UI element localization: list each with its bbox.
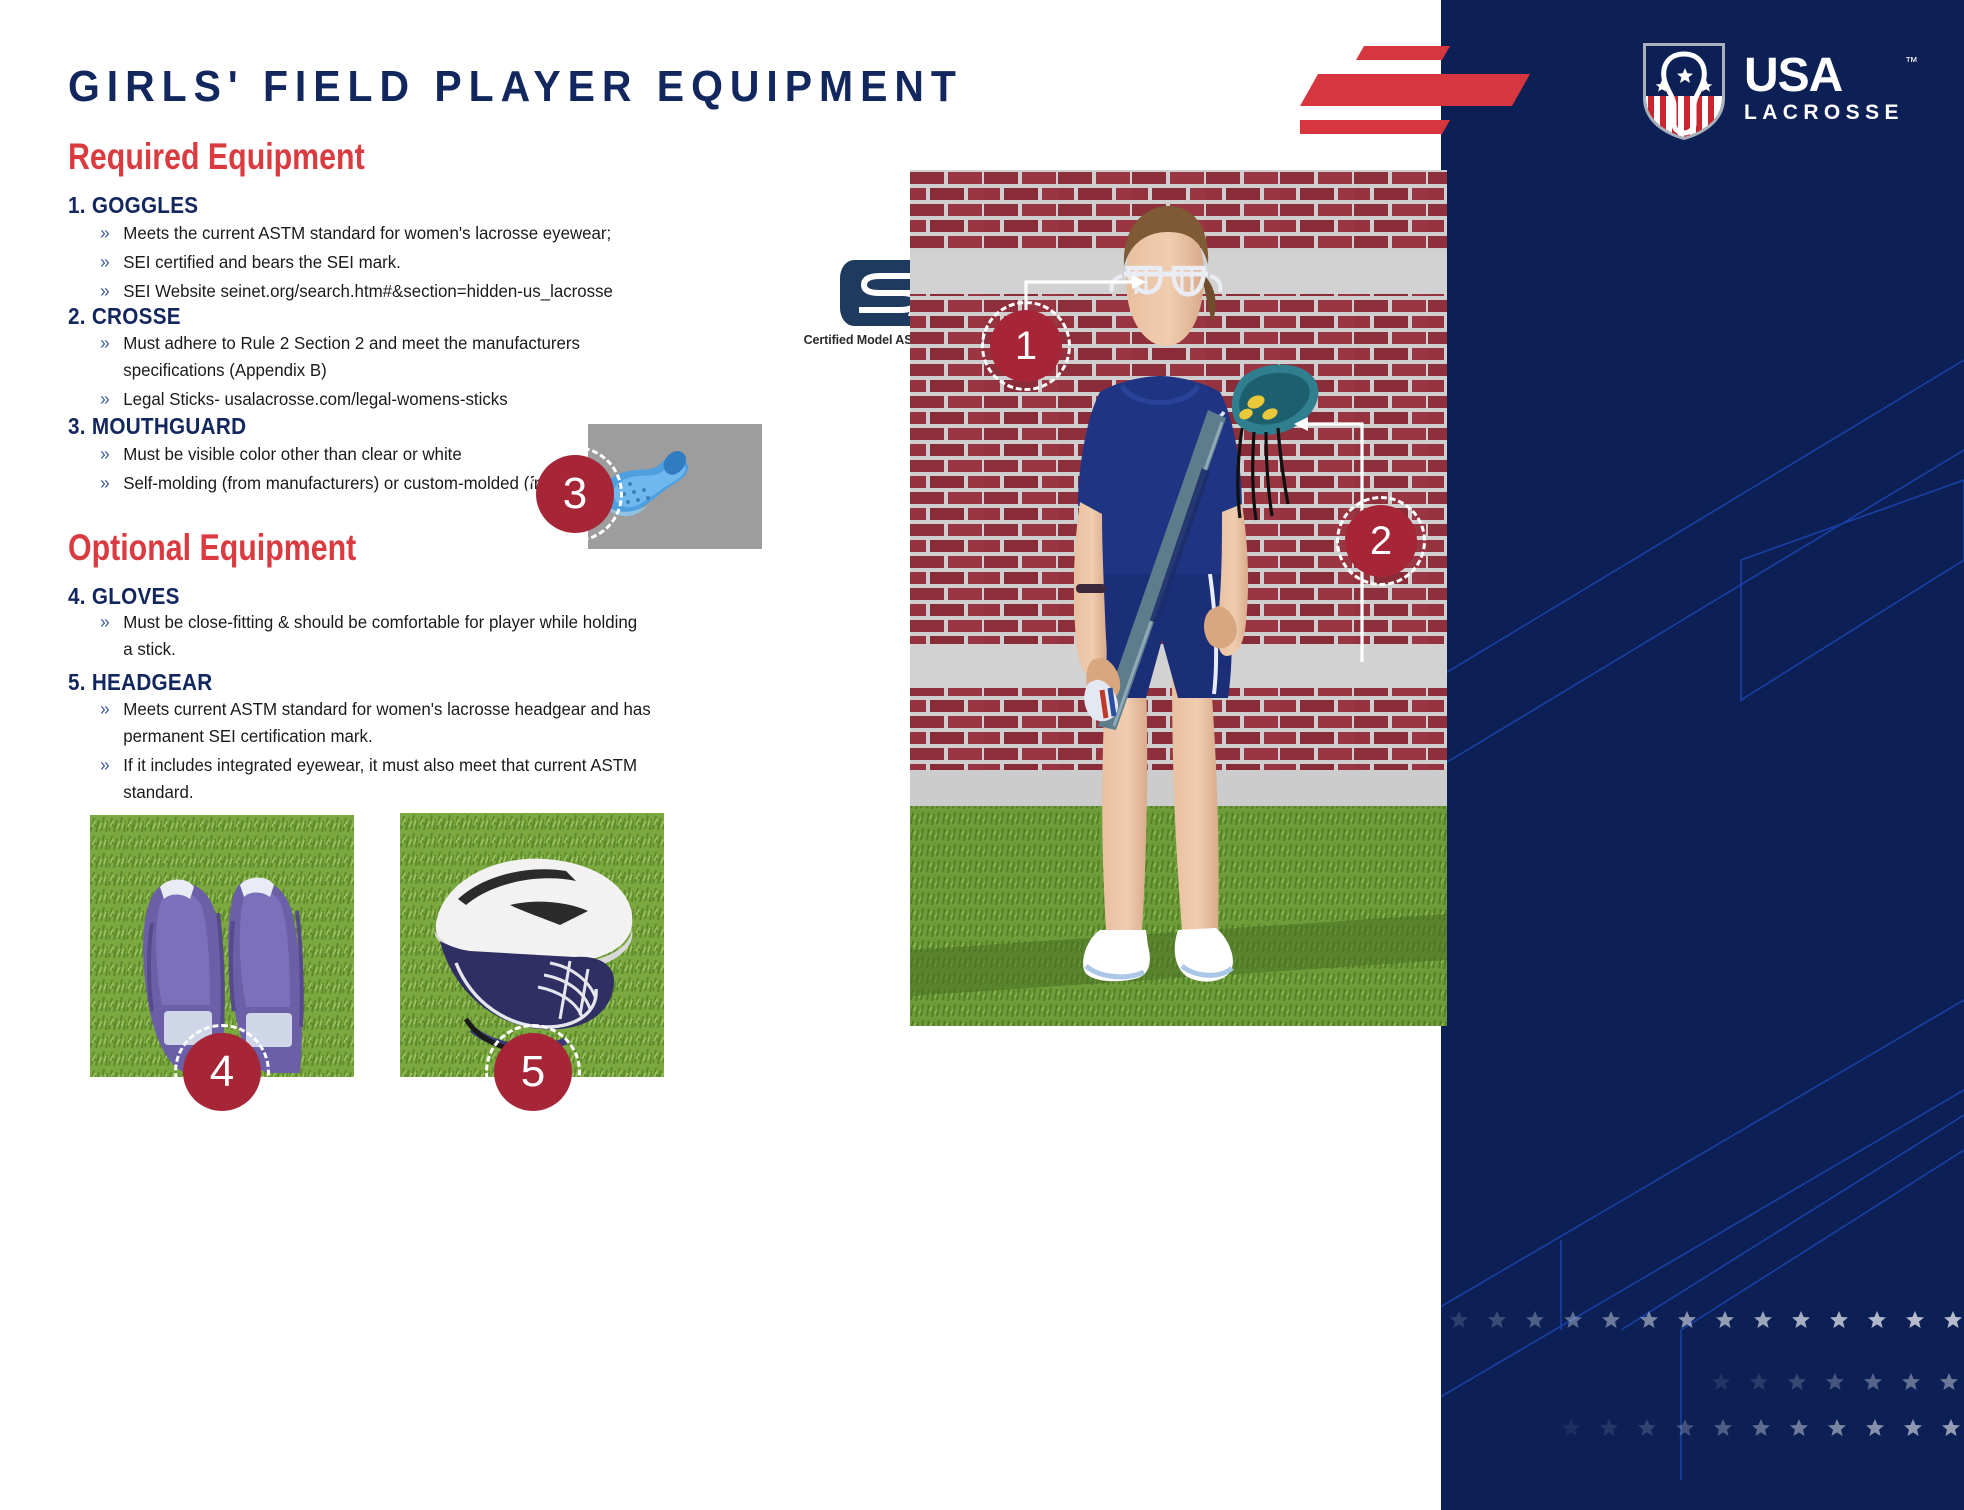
- list-item-label: Legal Sticks- usalacrosse.com/legal-wome…: [123, 386, 643, 413]
- trademark-symbol: ™: [1905, 56, 1917, 68]
- red-stripes-graphic: [1300, 30, 1610, 140]
- callout-badge-2: 2: [1345, 505, 1417, 577]
- item-title-crosse: 2. CROSSE: [68, 303, 181, 330]
- list-item-label: Must be close-fitting & should be comfor…: [123, 609, 643, 663]
- list-item-label: SEI certified and bears the SEI mark.: [123, 249, 643, 276]
- callout-badge-5: 5: [494, 1033, 572, 1111]
- list-item: » Must adhere to Rule 2 Section 2 and me…: [100, 330, 643, 384]
- chevron-bullet-icon: »: [100, 249, 123, 276]
- callout-number-3: 3: [563, 469, 587, 519]
- chevron-bullet-icon: »: [100, 441, 123, 468]
- list-item-label: If it includes integrated eyewear, it mu…: [123, 752, 651, 806]
- bullet-list-crosse: » Must adhere to Rule 2 Section 2 and me…: [100, 330, 660, 415]
- brand-usa-label: USA: [1744, 49, 1842, 102]
- section-heading-optional: Optional Equipment: [68, 527, 356, 569]
- callout-number-4: 4: [210, 1047, 234, 1097]
- list-item: » SEI certified and bears the SEI mark.: [100, 249, 643, 276]
- list-item-label: Meets the current ASTM standard for wome…: [123, 220, 643, 247]
- chevron-bullet-icon: »: [100, 470, 123, 497]
- callout-number-5: 5: [521, 1047, 545, 1097]
- callout-badge-3: 3: [536, 455, 614, 533]
- list-item-label: SEI Website seinet.org/search.htm#&secti…: [123, 278, 643, 305]
- callout-badge-4: 4: [183, 1033, 261, 1111]
- chevron-bullet-icon: »: [100, 386, 123, 413]
- list-item: » Must be close-fitting & should be comf…: [100, 609, 643, 663]
- brand-usa-text: USA™: [1744, 54, 1904, 98]
- bullet-list-headgear: » Meets current ASTM standard for women'…: [100, 696, 668, 809]
- chevron-bullet-icon: »: [100, 330, 123, 357]
- list-item-label: Must adhere to Rule 2 Section 2 and meet…: [123, 330, 643, 384]
- chevron-bullet-icon: »: [100, 752, 123, 779]
- list-item: » Legal Sticks- usalacrosse.com/legal-wo…: [100, 386, 643, 413]
- list-item-label: Meets current ASTM standard for women's …: [123, 696, 651, 750]
- chevron-bullet-icon: »: [100, 220, 123, 247]
- callout-number-2: 2: [1370, 519, 1392, 564]
- right-navy-panel: [1441, 0, 1964, 1510]
- bullet-list-goggles: » Meets the current ASTM standard for wo…: [100, 220, 660, 307]
- item-title-headgear: 5. HEADGEAR: [68, 669, 212, 696]
- chevron-bullet-icon: »: [100, 696, 123, 723]
- list-item: » Meets the current ASTM standard for wo…: [100, 220, 643, 247]
- usa-lacrosse-logo: USA™ LACROSSE: [1640, 40, 1904, 140]
- page-title: GIRLS' FIELD PLAYER EQUIPMENT: [68, 62, 963, 112]
- bullet-list-gloves: » Must be close-fitting & should be comf…: [100, 609, 660, 665]
- usa-lacrosse-shield-icon: [1640, 40, 1728, 140]
- callout-number-1: 1: [1015, 324, 1037, 369]
- list-item: » If it includes integrated eyewear, it …: [100, 752, 651, 806]
- decorative-line-graphic: [1441, 0, 1964, 1510]
- chevron-bullet-icon: »: [100, 278, 123, 305]
- item-title-gloves: 4. GLOVES: [68, 583, 180, 610]
- player-photo: [910, 170, 1447, 1026]
- item-title-mouthguard: 3. MOUTHGUARD: [68, 413, 246, 440]
- chevron-bullet-icon: »: [100, 609, 123, 636]
- list-item: » Meets current ASTM standard for women'…: [100, 696, 651, 750]
- item-title-goggles: 1. GOGGLES: [68, 192, 198, 219]
- brand-lacrosse-label: LACROSSE: [1744, 100, 1904, 126]
- list-item: » SEI Website seinet.org/search.htm#&sec…: [100, 278, 643, 305]
- section-heading-required: Required Equipment: [68, 136, 365, 178]
- callout-badge-1: 1: [990, 310, 1062, 382]
